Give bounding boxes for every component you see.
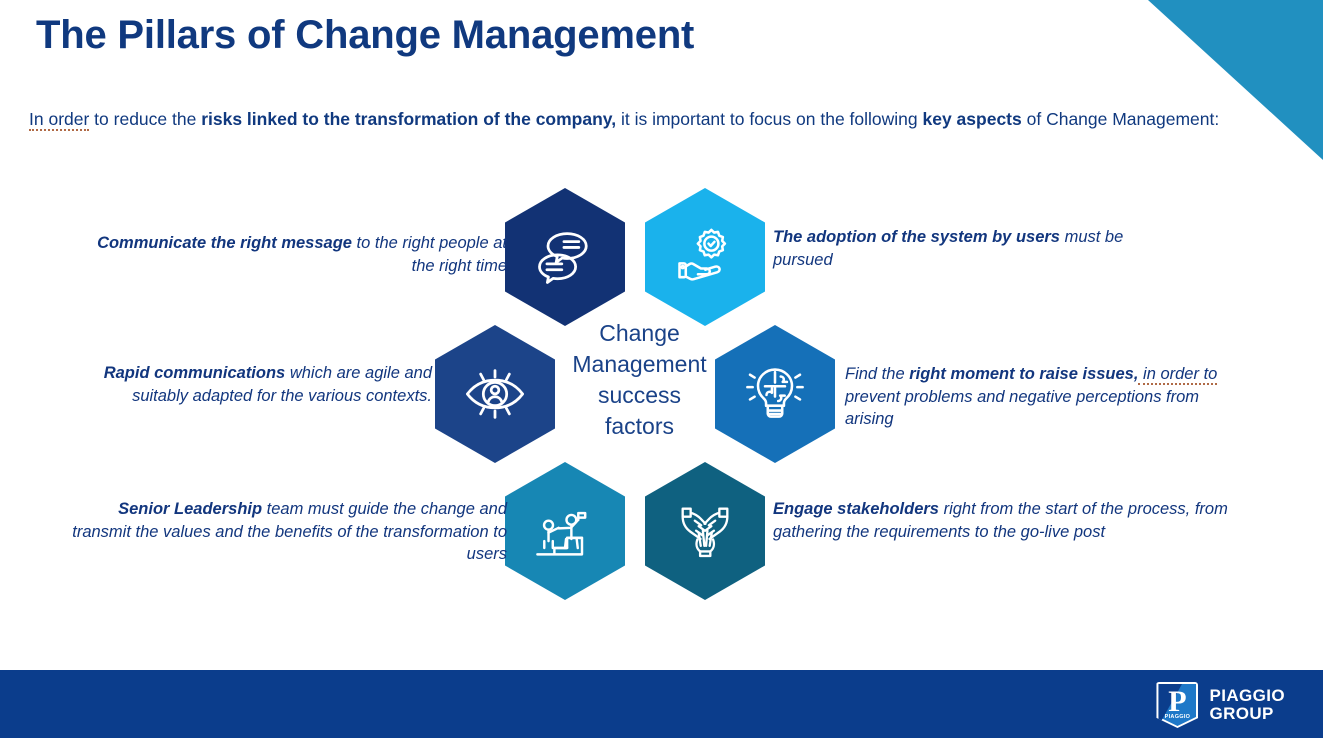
center-label-line-1: Change: [557, 318, 722, 349]
leadership-steps-icon: [531, 497, 599, 565]
callout-engage-bold: Engage stakeholders: [773, 500, 939, 518]
callout-adoption-bold: The adoption of the system by users: [773, 228, 1060, 246]
logo-letter-p: P: [1168, 687, 1186, 717]
speech-bubbles-icon: [531, 223, 599, 291]
logo-wordmark: PIAGGIO GROUP: [1209, 687, 1285, 723]
center-label: Change Management success factors: [557, 318, 722, 442]
hex-tile-senior-leadership[interactable]: [505, 462, 625, 600]
center-label-line-4: factors: [557, 411, 722, 442]
slide-canvas: The Pillars of Change Management In orde…: [0, 0, 1323, 738]
callout-leadership-bold: Senior Leadership: [118, 500, 262, 518]
hex-tile-raise-issues[interactable]: [715, 325, 835, 463]
piaggio-shield-icon: P PIAGGIO: [1156, 682, 1198, 728]
intro-text-4: of Change Management:: [1022, 109, 1220, 129]
callout-moment-bold: right moment to raise issues,: [909, 365, 1138, 383]
intro-bold-1: risks linked to the transformation of th…: [201, 109, 616, 129]
intro-paragraph: In order to reduce the risks linked to t…: [29, 107, 1239, 131]
page-title: The Pillars of Change Management: [36, 13, 694, 58]
piaggio-group-logo: P PIAGGIO PIAGGIO GROUP: [1156, 682, 1285, 728]
hand-gear-check-icon: [671, 223, 739, 291]
intro-text-3: it is important to focus on the followin…: [616, 109, 922, 129]
corner-accent-triangle: [1148, 0, 1323, 160]
logo-shield-wordmark: PIAGGIO: [1156, 714, 1198, 720]
center-label-line-2: Management: [557, 349, 722, 380]
logo-wordmark-line-2: GROUP: [1209, 705, 1285, 723]
intro-text-2: to reduce the: [89, 109, 201, 129]
intro-bold-2: key aspects: [923, 109, 1022, 129]
hex-tile-communicate[interactable]: [505, 188, 625, 326]
center-label-line-3: success: [557, 380, 722, 411]
eye-person-icon: [461, 360, 529, 428]
hex-tile-engage-stakeholders[interactable]: [645, 462, 765, 600]
callout-moment-rest: prevent problems and negative perception…: [845, 388, 1199, 429]
callout-rapid-communications: Rapid communications which are agile and…: [70, 362, 432, 407]
callout-adoption: The adoption of the system by users must…: [773, 226, 1163, 271]
intro-spellcheck-span: In order: [29, 109, 89, 131]
logo-wordmark-line-1: PIAGGIO: [1209, 687, 1285, 705]
callout-communicate-rest: to the right people at the right time: [352, 234, 507, 275]
callout-moment-pre: Find the: [845, 365, 909, 383]
callout-rapid-bold: Rapid communications: [104, 364, 286, 382]
callout-communicate-bold: Communicate the right message: [97, 234, 352, 252]
callout-communicate: Communicate the right message to the rig…: [95, 232, 507, 277]
joined-hands-icon: [671, 497, 739, 565]
callout-raise-issues: Find the right moment to raise issues, i…: [845, 363, 1250, 431]
footer-bar: P PIAGGIO PIAGGIO GROUP: [0, 670, 1323, 738]
hex-tile-adoption[interactable]: [645, 188, 765, 326]
callout-moment-spellcheck: in order to: [1138, 365, 1217, 385]
hex-tile-rapid-communications[interactable]: [435, 325, 555, 463]
puzzle-lightbulb-icon: [741, 360, 809, 428]
callout-engage-stakeholders: Engage stakeholders right from the start…: [773, 498, 1273, 543]
callout-senior-leadership: Senior Leadership team must guide the ch…: [70, 498, 507, 566]
